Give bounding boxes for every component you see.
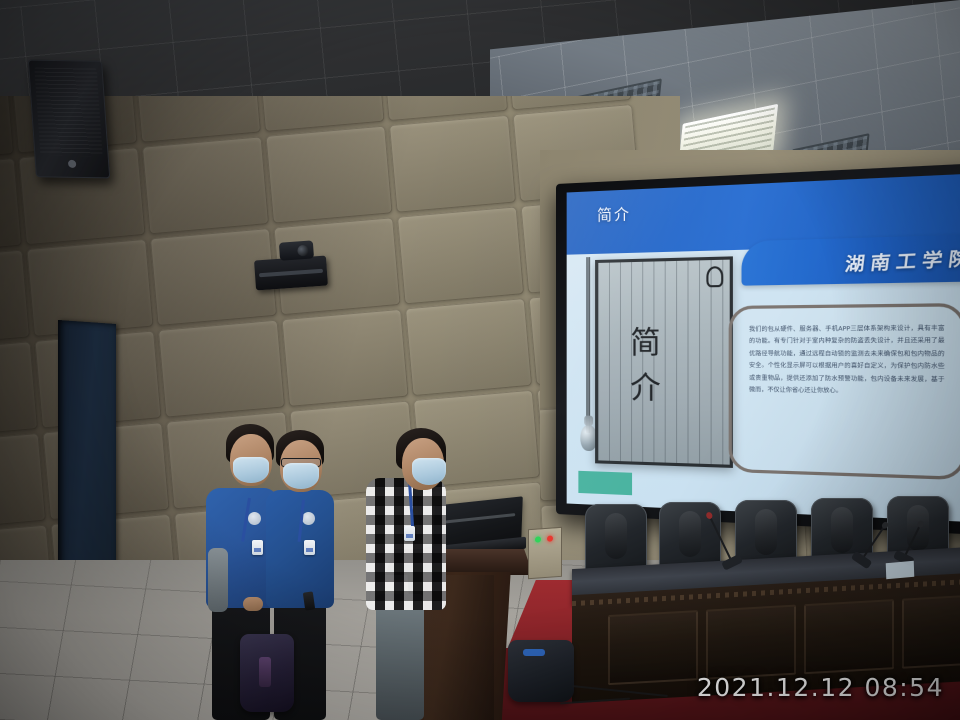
hands — [243, 597, 263, 611]
document-on-table — [886, 561, 915, 579]
wall-control-panel[interactable] — [528, 527, 562, 579]
screen-bezel: 简介 湖南工学院 简介 我们的包从硬件、服务器、手机APP三层体系架构来设计，具… — [556, 162, 960, 536]
wall-camera-icon — [254, 256, 328, 291]
presentation-slide: 简介 湖南工学院 简介 我们的包从硬件、服务器、手机APP三层体系架构来设计，具… — [567, 173, 960, 523]
school-banner: 湖南工学院 — [741, 234, 960, 286]
shirt-logo — [248, 512, 261, 525]
status-led-red — [547, 535, 553, 541]
face-mask — [412, 458, 446, 485]
slide-text-panel: 我们的包从硬件、服务器、手机APP三层体系架构来设计，具有丰富的功能。有专门针对… — [729, 303, 960, 480]
projection-screen[interactable]: 简介 湖南工学院 简介 我们的包从硬件、服务器、手机APP三层体系架构来设计，具… — [556, 162, 960, 536]
slide-title: 简介 — [597, 203, 631, 226]
sleeve — [208, 548, 228, 612]
shirt-logo — [302, 512, 315, 525]
loudspeaker-icon — [28, 59, 111, 178]
backpack[interactable] — [240, 634, 294, 712]
scroll-knot-icon — [706, 266, 723, 287]
legs — [376, 594, 424, 720]
backpack[interactable] — [508, 640, 574, 702]
torso-flannel — [366, 478, 446, 610]
photo-scene: 简介 湖南工学院 简介 我们的包从硬件、服务器、手机APP三层体系架构来设计，具… — [0, 0, 960, 720]
scroll-image-text: 简介 — [630, 317, 696, 409]
status-led-green — [535, 536, 541, 542]
slide-body-text: 我们的包从硬件、服务器、手机APP三层体系架构来设计，具有丰富的功能。有专门针对… — [749, 323, 944, 400]
scroll-rod — [586, 257, 590, 432]
torso — [266, 490, 334, 608]
id-badge — [252, 540, 263, 555]
school-name-calligraphy: 湖南工学院 — [844, 242, 960, 276]
slide-accent-block — [578, 471, 632, 495]
photo-timestamp: 2021.12.12 08:54 — [697, 673, 944, 702]
face-mask — [283, 463, 319, 489]
face-mask — [233, 457, 269, 483]
id-badge — [304, 540, 315, 555]
id-badge — [404, 526, 415, 541]
bamboo-scroll-image: 简介 — [595, 257, 733, 469]
